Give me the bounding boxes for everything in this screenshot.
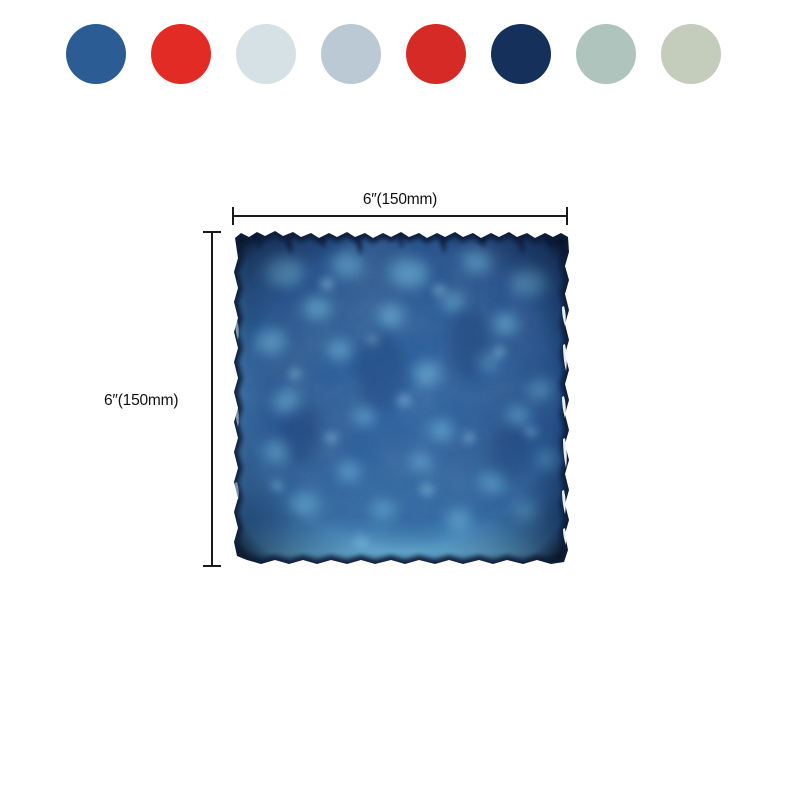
dimension-line-height <box>211 232 213 567</box>
dimension-tick-height-top <box>203 231 221 233</box>
dimension-tick-width-left <box>232 207 234 225</box>
dimension-tick-width-right <box>566 207 568 225</box>
dimension-tick-height-bottom <box>203 565 221 567</box>
product-figure: 6″(150mm) 6″(150mm) <box>0 0 800 800</box>
dimension-label-height: 6″(150mm) <box>104 392 178 410</box>
dimension-line-width <box>233 215 567 217</box>
dimension-label-width: 6″(150mm) <box>233 191 567 209</box>
tile-illustration <box>231 224 572 568</box>
product-image-tile <box>231 224 572 568</box>
